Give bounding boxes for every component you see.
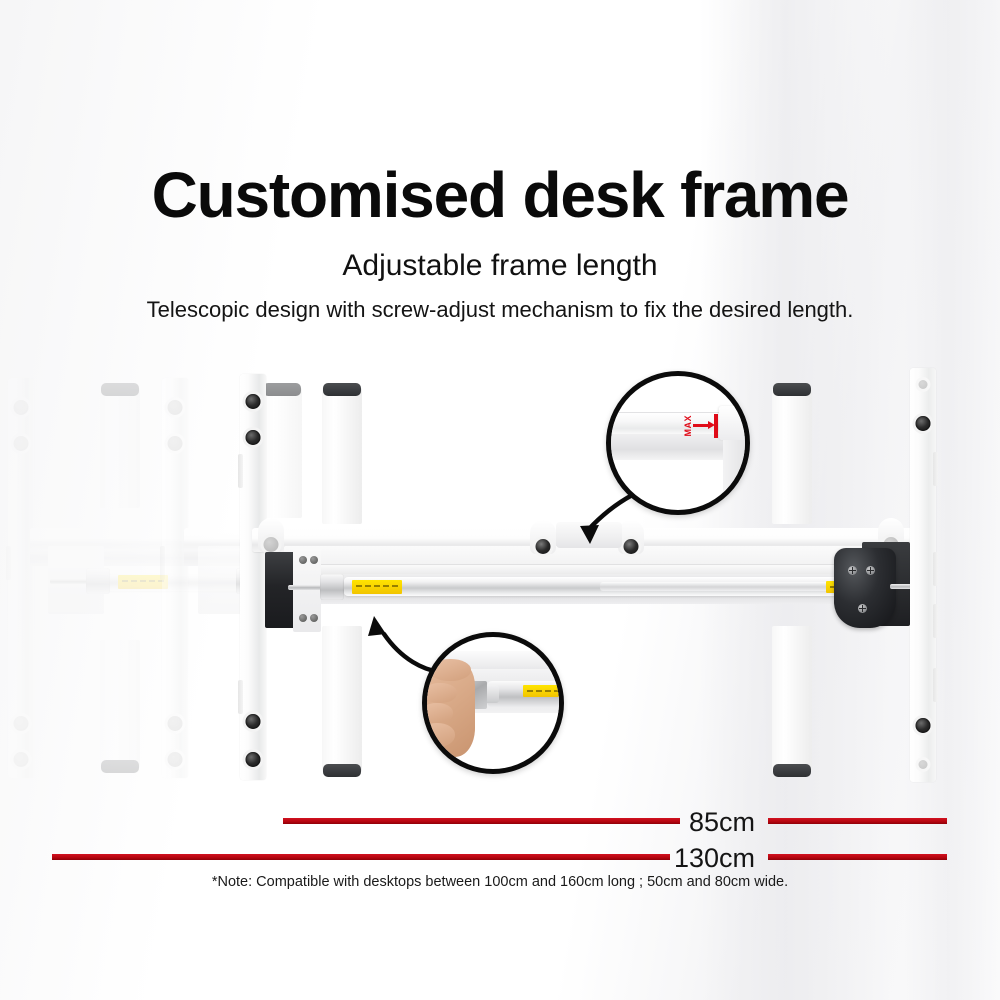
plate-screw-icon — [299, 614, 307, 622]
leg-bolt-icon — [246, 714, 261, 729]
dimension-line-130-left — [52, 854, 670, 860]
callout-inset-max-extension[interactable]: MAX — [606, 371, 750, 515]
motor-output-shaft — [890, 584, 912, 589]
page-title: Customised desk frame — [0, 163, 1000, 227]
leg-bolt-icon — [14, 716, 29, 731]
foot-pad-right — [772, 388, 812, 524]
leg-bolt-icon — [14, 752, 29, 767]
finger — [423, 683, 457, 703]
page-subtitle: Adjustable frame length — [0, 249, 1000, 283]
thumb — [422, 723, 455, 747]
foot-cap-icon — [773, 383, 811, 396]
motor-housing — [834, 548, 896, 628]
leg-notch — [238, 680, 243, 714]
actuator-mount-plate — [293, 548, 321, 632]
pivot-pin-icon — [264, 537, 279, 552]
page-tagline: Telescopic design with screw-adjust mech… — [0, 297, 1000, 323]
inset-end-cap — [719, 406, 750, 440]
inset-max-content: MAX — [611, 376, 745, 510]
leg-bolt-icon — [14, 400, 29, 415]
compatibility-note: *Note: Compatible with desktops between … — [0, 874, 1000, 890]
leg-bolt-icon — [919, 380, 928, 389]
leg-bolt-icon — [919, 760, 928, 769]
plate-screw-icon — [310, 614, 318, 622]
leg-bolt-icon — [246, 752, 261, 767]
product-illustration: MAX — [0, 360, 1000, 790]
leg-notch — [933, 668, 938, 702]
leg-bolt-icon — [246, 394, 261, 409]
leg-notch — [933, 552, 938, 586]
foot-cap-icon — [773, 764, 811, 777]
foot-cap-icon — [323, 764, 361, 777]
screw-adjust-nut — [320, 574, 344, 600]
motor-screw-icon — [848, 566, 857, 575]
dimension-line-130-right — [768, 854, 947, 860]
actuator-warning-label — [352, 580, 402, 594]
callout-inset-screw-adjust[interactable] — [422, 632, 564, 774]
leg-bracket-left — [240, 374, 266, 780]
leg-bolt-icon — [916, 416, 931, 431]
foot-cap-icon — [101, 383, 139, 396]
leg-bracket — [8, 378, 34, 778]
foot-pad — [262, 388, 302, 518]
foot-pad — [100, 640, 140, 768]
leg-bolt-icon — [14, 436, 29, 451]
dimension-label-85: 85cm — [600, 807, 755, 838]
max-label: MAX — [683, 415, 693, 437]
motor-screw-icon — [858, 604, 867, 613]
max-arrow-icon — [693, 424, 709, 427]
leg-bolt-icon — [168, 752, 183, 767]
finger — [422, 703, 453, 723]
motor-screw-icon — [866, 566, 875, 575]
leg-notch — [933, 604, 938, 638]
beam-slot — [296, 564, 898, 574]
leg-bolt-icon — [168, 716, 183, 731]
leg-bolt-icon — [168, 400, 183, 415]
foot-cap-icon — [263, 383, 301, 396]
foot-pad-right-lower — [772, 626, 812, 772]
inset-leg-post — [723, 440, 750, 514]
finger — [429, 659, 471, 681]
foot-pad-left — [322, 388, 362, 524]
pivot-pin-icon — [536, 539, 551, 554]
inset-screw-content — [427, 637, 559, 769]
leg-bracket-right — [910, 368, 936, 782]
dimension-label-130: 130cm — [580, 843, 755, 874]
adjust-nut — [86, 568, 110, 594]
leg-bolt-icon — [168, 436, 183, 451]
inset-warning-label — [523, 685, 564, 697]
leg-bolt-icon — [916, 718, 931, 733]
foot-cap-icon — [323, 383, 361, 396]
foot-cap-icon — [101, 760, 139, 773]
dimension-line-85-right — [768, 818, 947, 824]
plate-screw-icon — [299, 556, 307, 564]
leg-notch — [933, 452, 938, 486]
max-stop-line — [714, 414, 718, 438]
plate-screw-icon — [310, 556, 318, 564]
foot-pad — [100, 388, 140, 508]
leg-notch — [160, 546, 165, 580]
leg-notch — [238, 454, 243, 488]
actuator-tube-inner — [600, 582, 840, 591]
product-marketing-image: Customised desk frame Adjustable frame l… — [0, 0, 1000, 1000]
pivot-lug-left — [258, 518, 284, 552]
leg-notch — [6, 546, 11, 580]
leg-bolt-icon — [246, 430, 261, 445]
leg-bracket — [162, 378, 188, 778]
